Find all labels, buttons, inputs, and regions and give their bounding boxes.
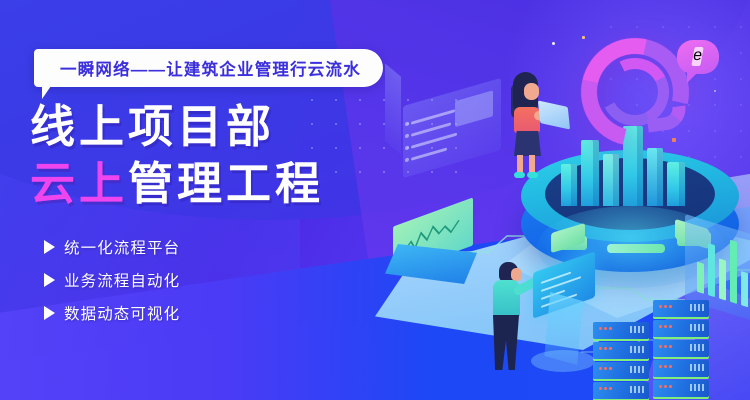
translucent-ui-card (403, 78, 501, 178)
server-racks (593, 288, 723, 400)
platform-progress-bar (607, 244, 665, 253)
promo-banner: 一瞬网络——让建筑企业管理行云流水 线上项目部 云上管理工程 统一化流程平台 业… (0, 0, 750, 400)
card-side-edge (385, 63, 401, 154)
woman-with-tablet (503, 72, 559, 178)
feature-list: 统一化流程平台 业务流程自动化 数据动态可视化 (44, 236, 180, 335)
headline-accent-text: 云上 (30, 158, 128, 209)
tagline-text: 一瞬网络——让建筑企业管理行云流水 (60, 56, 361, 80)
tagline-badge: 一瞬网络——让建筑企业管理行云流水 (34, 49, 383, 87)
bubble-glyph: e (691, 47, 703, 66)
play-arrow-icon (44, 273, 55, 287)
card-thumbnail (455, 90, 493, 127)
server-rack-left (593, 322, 649, 400)
page-title: 线上项目部 云上管理工程 (30, 103, 324, 207)
play-arrow-icon (44, 240, 55, 254)
list-item: 业务流程自动化 (44, 269, 180, 291)
feature-label: 业务流程自动化 (64, 269, 180, 291)
feature-label: 统一化流程平台 (64, 236, 180, 258)
chat-bubble: e (677, 40, 719, 74)
tagline-badge-tail (42, 86, 51, 99)
e-logo-swirl (581, 38, 689, 146)
list-item: 数据动态可视化 (44, 302, 180, 324)
isometric-illustration: e (385, 0, 750, 400)
laptop-base (385, 244, 477, 284)
headline-line-1: 线上项目部 (30, 103, 324, 151)
server-rack-right (653, 300, 709, 400)
headline-rest-text: 管理工程 (128, 158, 324, 209)
headline-line-2: 云上管理工程 (30, 160, 324, 208)
list-item: 统一化流程平台 (44, 236, 180, 258)
feature-label: 数据动态可视化 (64, 302, 180, 324)
kiosk-base-shadow (531, 350, 595, 372)
play-arrow-icon (44, 306, 55, 320)
